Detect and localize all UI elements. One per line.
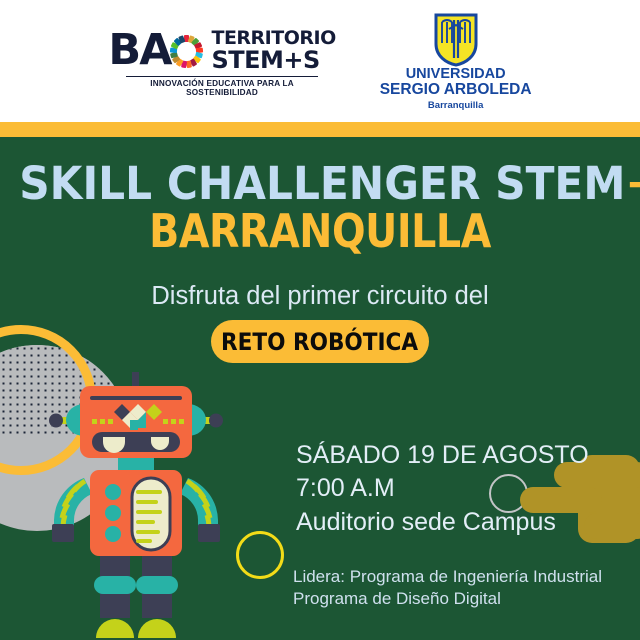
bao-stem-lines: TERRITORIO STEM+S [211, 29, 335, 72]
yellow-small-ring-decor [236, 531, 284, 579]
hero-title-city: BARRANQUILLA [45, 206, 595, 258]
header-logos: BA TERRITORIO STEM+S INNOVACIÓN EDUCATIV… [0, 0, 640, 122]
bao-logo-row: BA TERRITORIO STEM+S [108, 29, 335, 72]
credits-line1: Lidera: Programa de Ingeniería Industria… [293, 566, 602, 588]
poster-canvas: BA TERRITORIO STEM+S INNOVACIÓN EDUCATIV… [0, 0, 640, 640]
credits-line2: Programa de Diseño Digital [293, 588, 602, 610]
university-logo-line1: UNIVERSIDAD [406, 67, 506, 82]
yellow-divider-band [0, 122, 640, 137]
bao-logo-line2: STEM+S [211, 48, 335, 72]
event-place: Auditorio sede Campus [296, 506, 589, 539]
universidad-sergio-arboleda-logo: UNIVERSIDAD SERGIO ARBOLEDA Barranquilla [380, 13, 532, 111]
hero-title-plus: + [625, 157, 640, 210]
university-logo-line3: Barranquilla [428, 100, 483, 111]
shield-tree-icon [433, 13, 479, 67]
event-time: 7:00 A.M [296, 472, 589, 505]
badge-label: RETO ROBÓTICA [221, 328, 418, 356]
hero-title-main: SKILL CHALLENGER STEM+IS [19, 161, 621, 206]
poster-body: SKILL CHALLENGER STEM+IS BARRANQUILLA Di… [0, 137, 640, 640]
event-details: SÁBADO 19 DE AGOSTO 7:00 A.M Auditorio s… [296, 439, 589, 539]
bao-logo-letters: BA [108, 30, 170, 71]
robot-illustration [48, 372, 224, 640]
gold-speed-line-3-decor [584, 513, 640, 539]
university-logo-line2: SERGIO ARBOLEDA [380, 82, 532, 98]
bao-territorio-stem-logo: BA TERRITORIO STEM+S INNOVACIÓN EDUCATIV… [108, 29, 335, 97]
bao-logo-tagline: INNOVACIÓN EDUCATIVA PARA LA SOSTENIBILI… [126, 76, 318, 97]
hero-title-part1: SKILL CHALLENGER STEM [19, 157, 625, 210]
hero-title-block: SKILL CHALLENGER STEM+IS BARRANQUILLA [0, 161, 640, 258]
event-date: SÁBADO 19 DE AGOSTO [296, 439, 589, 472]
hero-subtitle: Disfruta del primer circuito del [0, 282, 640, 311]
credits-block: Lidera: Programa de Ingeniería Industria… [293, 566, 602, 610]
sdg-color-wheel-icon [168, 33, 204, 69]
reto-robotica-badge: RETO ROBÓTICA [211, 320, 429, 363]
